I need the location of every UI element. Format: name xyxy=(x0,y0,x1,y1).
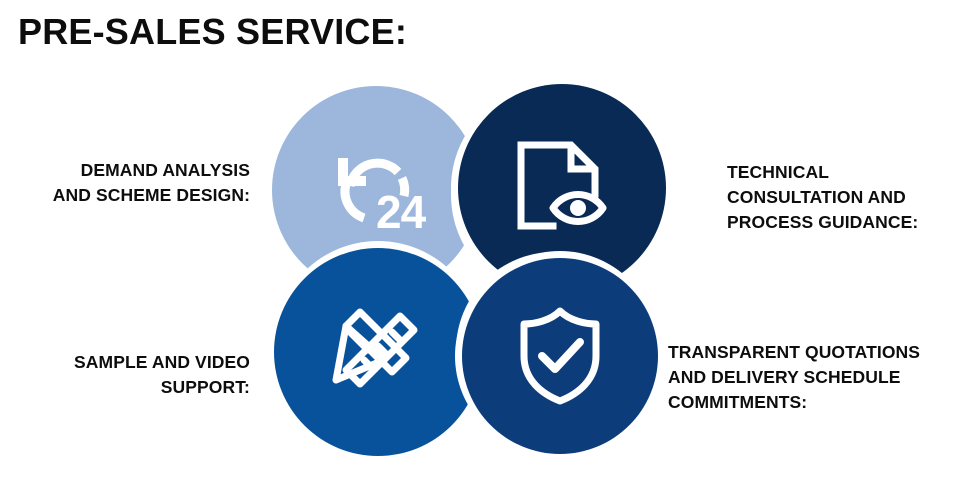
label-technical-consultation: TECHNICAL CONSULTATION AND PROCESS GUIDA… xyxy=(727,160,952,235)
label-demand-analysis: DEMAND ANALYSIS AND SCHEME DESIGN: xyxy=(10,158,250,208)
label-line: AND DELIVERY SCHEDULE xyxy=(668,365,960,390)
label-line: CONSULTATION AND xyxy=(727,185,952,210)
label-line: PROCESS GUIDANCE: xyxy=(727,210,952,235)
label-line: DEMAND ANALYSIS xyxy=(10,158,250,183)
label-line: COMMITMENTS: xyxy=(668,390,960,415)
label-line: TRANSPARENT QUOTATIONS xyxy=(668,340,960,365)
label-line: SUPPORT: xyxy=(10,375,250,400)
circle-sample-video-support[interactable] xyxy=(274,248,482,456)
page-title: PRE-SALES SERVICE: xyxy=(18,10,407,54)
label-sample-video-support: SAMPLE AND VIDEO SUPPORT: xyxy=(10,350,250,400)
shield-check-icon xyxy=(514,306,606,406)
svg-text:24: 24 xyxy=(376,186,427,238)
document-eye-icon xyxy=(511,138,613,238)
pencil-ruler-icon xyxy=(328,302,428,402)
circle-cluster: 24 xyxy=(268,82,668,460)
label-transparent-quotations: TRANSPARENT QUOTATIONS AND DELIVERY SCHE… xyxy=(668,340,960,415)
label-line: TECHNICAL xyxy=(727,160,952,185)
label-line: AND SCHEME DESIGN: xyxy=(10,183,250,208)
circle-transparent-quotations[interactable] xyxy=(462,258,658,454)
24-hour-rotate-icon: 24 xyxy=(324,142,428,238)
label-line: SAMPLE AND VIDEO xyxy=(10,350,250,375)
